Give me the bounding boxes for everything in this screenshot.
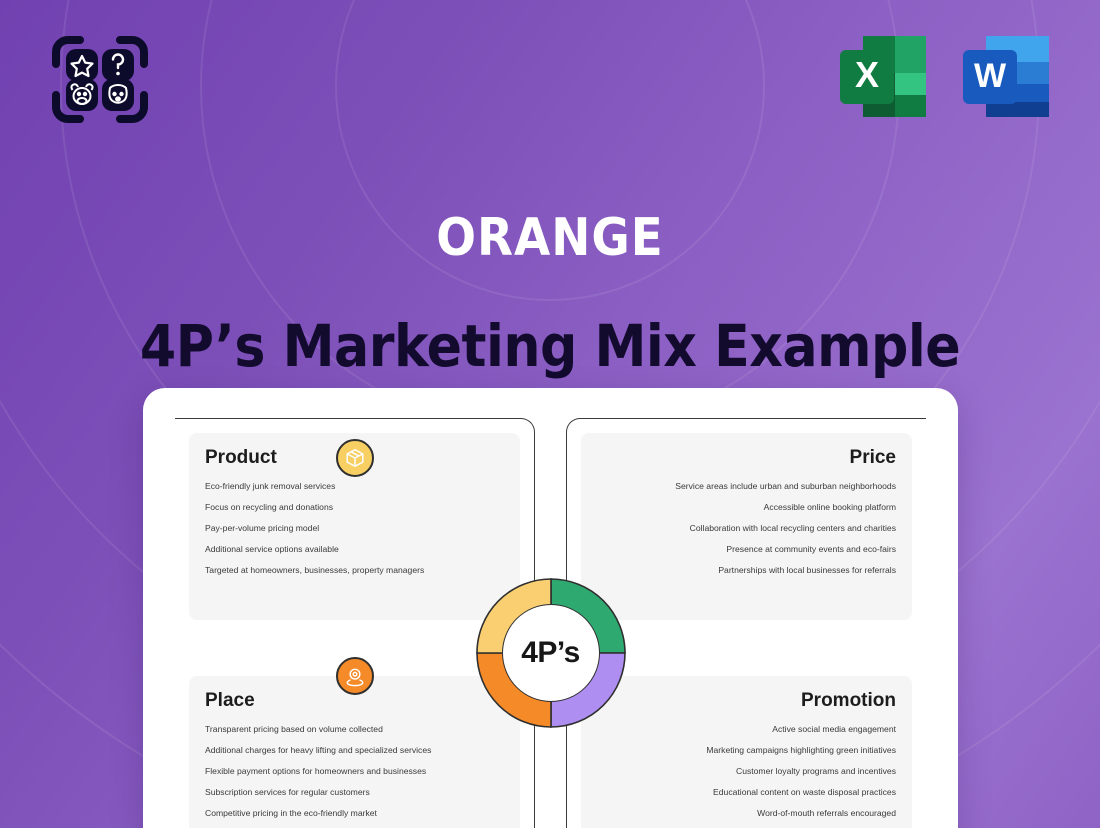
list-item: Targeted at homeowners, businesses, prop… [205,566,504,575]
list-item: Service areas include urban and suburban… [597,482,896,491]
donut-center: 4P’s [502,604,600,702]
list-item: Eco-friendly junk removal services [205,482,504,491]
svg-text:W: W [974,57,1007,95]
office-app-icons: X W [836,30,1054,122]
donut-center-label: 4P’s [521,636,580,670]
list-item: Subscription services for regular custom… [205,788,504,797]
list-item: Transparent pricing based on volume coll… [205,725,504,734]
list-item: Pay-per-volume pricing model [205,524,504,533]
brand-name: ORANGE [0,208,1100,268]
four-ps-diagram: Product Eco-friendly junk removal servic… [175,418,926,828]
list-item: Accessible online booking platform [597,503,896,512]
list-item: Collaboration with local recycling cente… [597,524,896,533]
quadrant-list-place: Transparent pricing based on volume coll… [205,725,504,818]
list-item: Focus on recycling and donations [205,503,504,512]
word-icon[interactable]: W [959,30,1054,122]
quadrant-title-price: Price [597,447,896,469]
quadrant-list-product: Eco-friendly junk removal services Focus… [205,482,504,575]
list-item: Partnerships with local businesses for r… [597,566,896,575]
quadrant-title-promotion: Promotion [597,690,896,712]
pet-scan-logo-icon[interactable] [50,32,150,127]
list-item: Additional service options available [205,545,504,554]
location-pin-icon[interactable] [336,657,374,695]
list-item: Active social media engagement [597,725,896,734]
svg-text:X: X [855,54,879,95]
list-item: Flexible payment options for homeowners … [205,767,504,776]
list-item: Customer loyalty programs and incentives [597,767,896,776]
list-item: Word-of-mouth referrals encouraged [597,809,896,818]
four-ps-donut-chart: 4P’s [469,571,633,735]
list-item: Educational content on waste disposal pr… [597,788,896,797]
slide-card: Product Eco-friendly junk removal servic… [143,388,958,828]
quadrant-list-price: Service areas include urban and suburban… [597,482,896,575]
list-item: Competitive pricing in the eco-friendly … [205,809,504,818]
slide-canvas: X W ORANGE 4P’s Marketing Mix Example Pr… [0,0,1100,828]
quadrant-list-promotion: Active social media engagement Marketing… [597,725,896,818]
list-item: Presence at community events and eco-fai… [597,545,896,554]
excel-icon[interactable]: X [836,30,931,122]
package-box-icon[interactable] [336,439,374,477]
page-title: 4P’s Marketing Mix Example [0,312,1100,380]
list-item: Marketing campaigns highlighting green i… [597,746,896,755]
list-item: Additional charges for heavy lifting and… [205,746,504,755]
